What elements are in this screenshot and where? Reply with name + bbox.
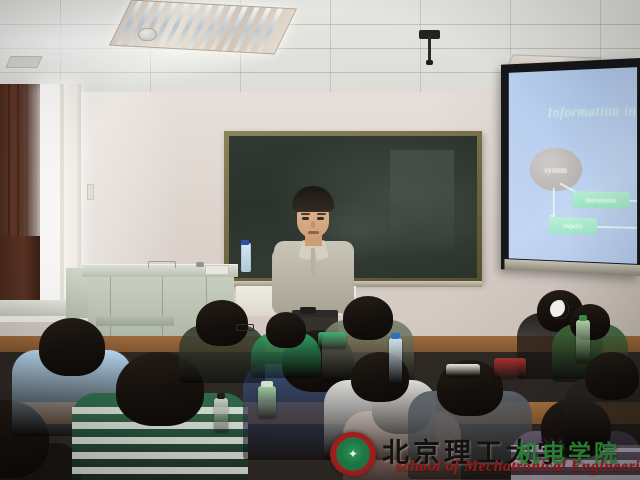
curtain-left — [0, 84, 44, 244]
window-latch-icon — [87, 184, 94, 200]
curtain-lower — [0, 236, 40, 310]
thermos-mug-green-cap — [261, 381, 273, 387]
podium-knob-icon[interactable] — [196, 262, 204, 267]
water-bottle-green — [576, 320, 590, 362]
lecturer-nose — [311, 221, 315, 228]
green-notebook — [318, 332, 346, 348]
podium-shelf — [96, 316, 174, 326]
lecturer-shirt-placket — [311, 248, 315, 276]
water-bottle-blue-cap-cap — [391, 333, 399, 339]
water-bottle-blue-cap — [389, 338, 402, 384]
white-notebook — [446, 364, 480, 376]
ceiling-mount-pole — [428, 36, 431, 62]
water-bottle-lecturer-ledge — [241, 243, 251, 272]
water-bottle-cap — [241, 240, 249, 245]
bit-university-emblem: ✦ — [330, 432, 376, 476]
lecturer-hair — [292, 186, 334, 212]
student-olive-seated-head — [343, 296, 393, 340]
thermos-mug-green — [258, 386, 276, 418]
water-bottle-green-cap — [579, 315, 588, 321]
emblem-center: ✦ — [341, 442, 365, 466]
fluorescent-ceiling-light-icon — [109, 0, 297, 54]
red-pencil-case — [494, 358, 526, 378]
ceiling-vent — [5, 56, 42, 68]
lecturer-mouth — [308, 231, 319, 234]
lecture-hall-photo: Information in system instruments expert… — [0, 0, 640, 480]
student-back-right-dark-head — [585, 352, 639, 400]
ceiling-mount-tip — [426, 60, 433, 65]
slide-surface: Information in system instruments expert… — [509, 67, 637, 264]
water-bottle-grey-black-cap-cap — [217, 393, 226, 399]
chalk-box — [205, 265, 229, 275]
lecturer-eyebrow-right — [317, 213, 326, 215]
student-lightblue-jacket-head — [39, 318, 105, 376]
hair-clip-icon — [550, 300, 569, 319]
projection-screen: Information in system instruments expert… — [501, 58, 640, 276]
student-dark-glasses-head — [196, 300, 248, 346]
smoke-detector-icon — [138, 28, 157, 41]
lecturer-eye-right — [317, 217, 324, 220]
dove-icon: ✦ — [348, 448, 358, 460]
podium-handle-icon[interactable] — [148, 261, 176, 268]
lecturer-eyebrow-left — [301, 213, 310, 215]
lecturer-held-object — [300, 307, 316, 314]
screen-glare — [509, 67, 637, 264]
lecturer-eye-left — [302, 217, 309, 220]
student-green-shirt-head — [266, 312, 306, 348]
eyeglasses-icon — [236, 324, 254, 331]
banner-english-subtitle: school of Mechatronical Engineering — [396, 458, 640, 476]
window-mullion — [60, 84, 64, 304]
